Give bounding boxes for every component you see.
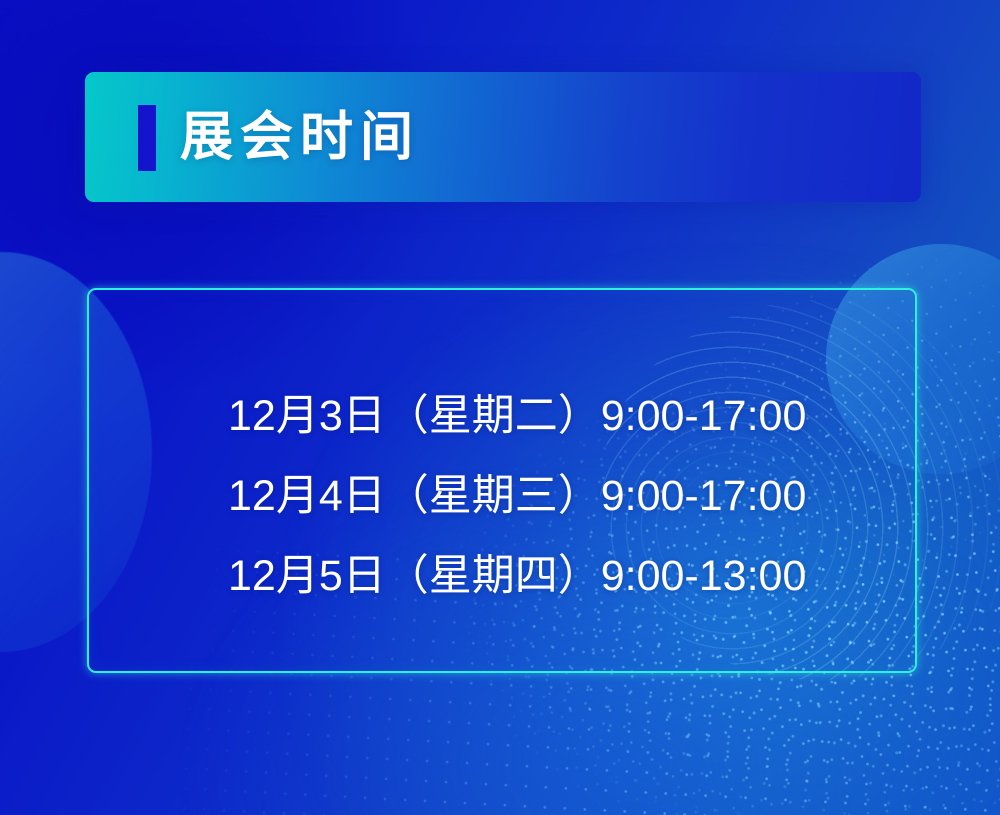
page-title: 展会时间 bbox=[180, 111, 420, 164]
header-accent-bar bbox=[138, 105, 156, 171]
section-header-banner: 展会时间 bbox=[85, 72, 921, 202]
poster-canvas: 展会时间 12月3日（星期二）9:00-17:00 12月4日（星期三）9:00… bbox=[0, 0, 1000, 815]
schedule-item-1: 12月3日（星期二）9:00-17:00 bbox=[228, 376, 828, 456]
schedule-list: 12月3日（星期二）9:00-17:00 12月4日（星期三）9:00-17:0… bbox=[228, 376, 828, 616]
schedule-item-2: 12月4日（星期三）9:00-17:00 bbox=[228, 456, 828, 536]
schedule-item-3: 12月5日（星期四）9:00-13:00 bbox=[228, 536, 828, 616]
